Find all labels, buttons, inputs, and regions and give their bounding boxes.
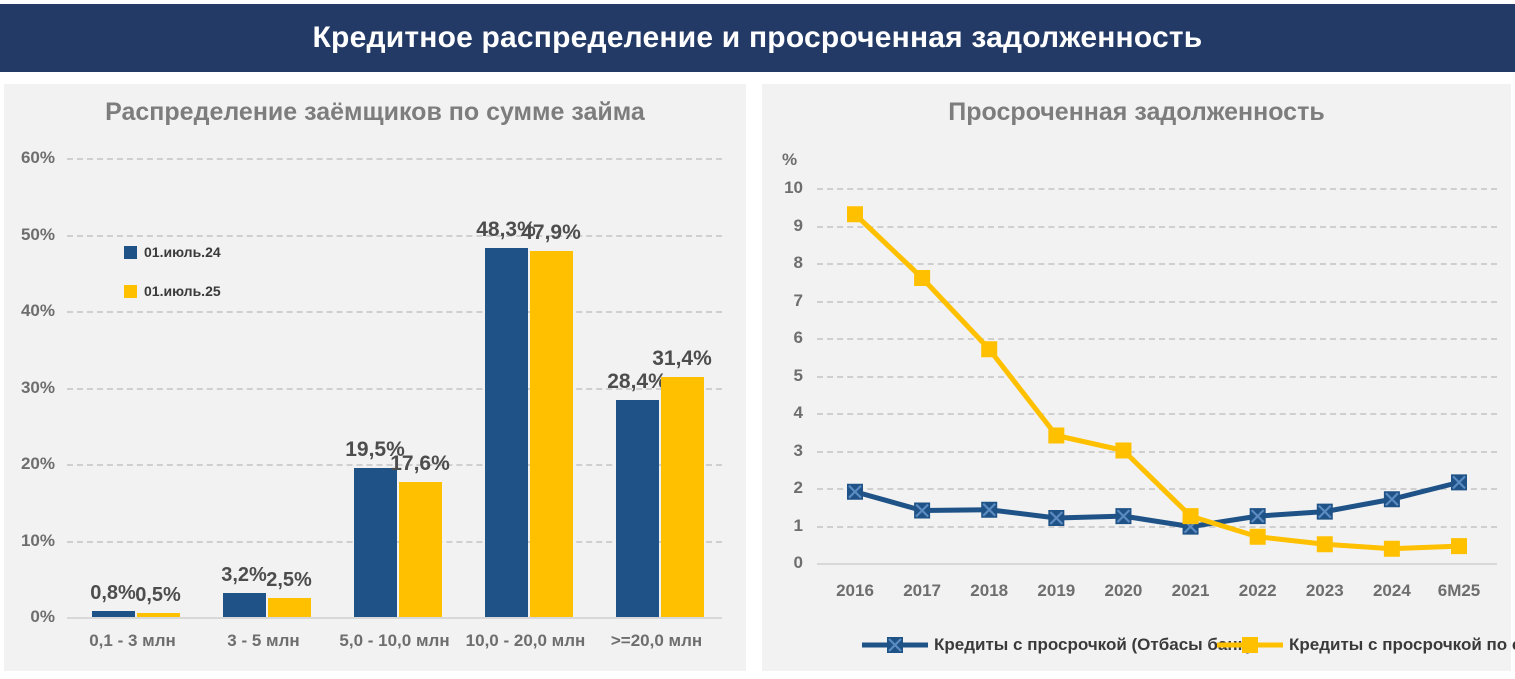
y-axis-tick-label: 10%: [4, 531, 55, 551]
legend-marker-svg: [862, 635, 928, 655]
gridline: [67, 311, 722, 313]
x-axis-tick-label: 3 - 5 млн: [198, 631, 329, 651]
data-point-marker-s0-0[interactable]: [847, 484, 863, 500]
data-point-marker-s0-7[interactable]: [1317, 504, 1333, 520]
y-axis-tick-label: 40%: [4, 301, 55, 321]
bar-0-3[interactable]: [485, 248, 528, 617]
x-axis-tick-label: >=20,0 млн: [591, 631, 722, 651]
bar-value-label: 0,5%: [135, 584, 181, 607]
data-point-marker-s1-5[interactable]: [1183, 508, 1199, 524]
bar-legend-item-1[interactable]: 01.июль.25: [124, 283, 221, 299]
data-point-marker-s0-1[interactable]: [914, 503, 930, 519]
line-series-svg: [762, 84, 1511, 671]
data-point-marker-s0-6[interactable]: [1250, 508, 1266, 524]
legend-marker-svg: [1217, 635, 1283, 655]
bar-value-label: 28,4%: [607, 370, 667, 394]
panel-overdue-debt: Просроченная задолженность %012345678910…: [762, 84, 1511, 671]
bar-value-label: 31,4%: [652, 347, 712, 371]
legend-marker-navy: [862, 635, 928, 655]
bar-1-3[interactable]: [530, 251, 573, 617]
x-axis-tick-label: 0,1 - 3 млн: [67, 631, 198, 651]
data-point-marker-s1-4[interactable]: [1115, 443, 1131, 459]
bar-legend-item-0[interactable]: 01.июль.24: [124, 244, 221, 260]
bar-value-label: 2,5%: [266, 569, 312, 592]
bar-0-4[interactable]: [616, 400, 659, 617]
line-series-1: [855, 214, 1459, 549]
page-title: Кредитное распределение и просроченная з…: [313, 21, 1203, 55]
data-point-marker-s1-9[interactable]: [1451, 538, 1467, 554]
legend-swatch-yellow: [124, 285, 137, 298]
data-point-marker-s0-legend[interactable]: [887, 637, 903, 653]
bar-value-label: 3,2%: [221, 564, 267, 587]
y-axis-tick-label: 30%: [4, 378, 55, 398]
bar-1-4[interactable]: [661, 377, 704, 617]
legend-marker-yellow: [1217, 635, 1283, 655]
bar-value-label: 17,6%: [390, 452, 450, 476]
data-point-marker-s1-0[interactable]: [847, 206, 863, 222]
bar-value-label: 47,9%: [521, 221, 581, 245]
x-axis-tick-label: 10,0 - 20,0 млн: [460, 631, 591, 651]
data-point-marker-s0-9[interactable]: [1451, 474, 1467, 490]
line-legend-label: Кредиты с просрочкой (Отбасы банк): [934, 635, 1252, 655]
panel-borrower-distribution: Распределение заёмщиков по сумме займа 0…: [4, 84, 746, 671]
bar-legend-label: 01.июль.25: [144, 283, 221, 299]
gridline: [67, 235, 722, 237]
data-point-marker-s0-8[interactable]: [1384, 491, 1400, 507]
data-point-marker-s0-2[interactable]: [981, 502, 997, 518]
bar-legend-label: 01.июль.24: [144, 244, 221, 260]
data-point-marker-s1-legend[interactable]: [1242, 637, 1258, 653]
data-point-marker-s0-4[interactable]: [1115, 508, 1131, 524]
header-bar: Кредитное распределение и просроченная з…: [0, 4, 1515, 72]
y-axis-tick-label: 50%: [4, 225, 55, 245]
y-axis-tick-label: 0%: [4, 607, 55, 627]
data-point-marker-s1-7[interactable]: [1317, 536, 1333, 552]
bar-value-label: 0,8%: [90, 582, 136, 605]
bar-1-1[interactable]: [268, 598, 311, 617]
bar-0-1[interactable]: [223, 593, 266, 617]
bar-0-2[interactable]: [354, 468, 397, 617]
data-point-marker-s1-2[interactable]: [981, 341, 997, 357]
data-point-marker-s0-3[interactable]: [1048, 510, 1064, 526]
x-axis-line: [67, 617, 722, 619]
line-chart-plot-area: %012345678910201620172018201920202021202…: [762, 84, 1511, 671]
data-point-marker-s1-3[interactable]: [1048, 428, 1064, 444]
data-point-marker-s1-1[interactable]: [914, 270, 930, 286]
bar-chart-plot-area: 0%10%20%30%40%50%60%01.июль.2401.июль.25…: [4, 84, 746, 671]
bar-1-2[interactable]: [399, 482, 442, 617]
bar-0-0[interactable]: [92, 611, 135, 617]
line-series-0: [855, 482, 1459, 526]
screenshot-root: Кредитное распределение и просроченная з…: [0, 0, 1515, 679]
data-point-marker-s1-6[interactable]: [1250, 529, 1266, 545]
gridline: [67, 158, 722, 160]
y-axis-tick-label: 60%: [4, 148, 55, 168]
legend-swatch-navy: [124, 246, 137, 259]
y-axis-tick-label: 20%: [4, 454, 55, 474]
data-point-marker-s1-8[interactable]: [1384, 541, 1400, 557]
line-legend-item-1[interactable]: Кредиты с просрочкой по системе: [1217, 635, 1515, 655]
line-legend-label: Кредиты с просрочкой по системе: [1289, 635, 1515, 655]
x-axis-tick-label: 5,0 - 10,0 млн: [329, 631, 460, 651]
line-legend-item-0[interactable]: Кредиты с просрочкой (Отбасы банк): [862, 635, 1252, 655]
bar-1-0[interactable]: [137, 613, 180, 617]
